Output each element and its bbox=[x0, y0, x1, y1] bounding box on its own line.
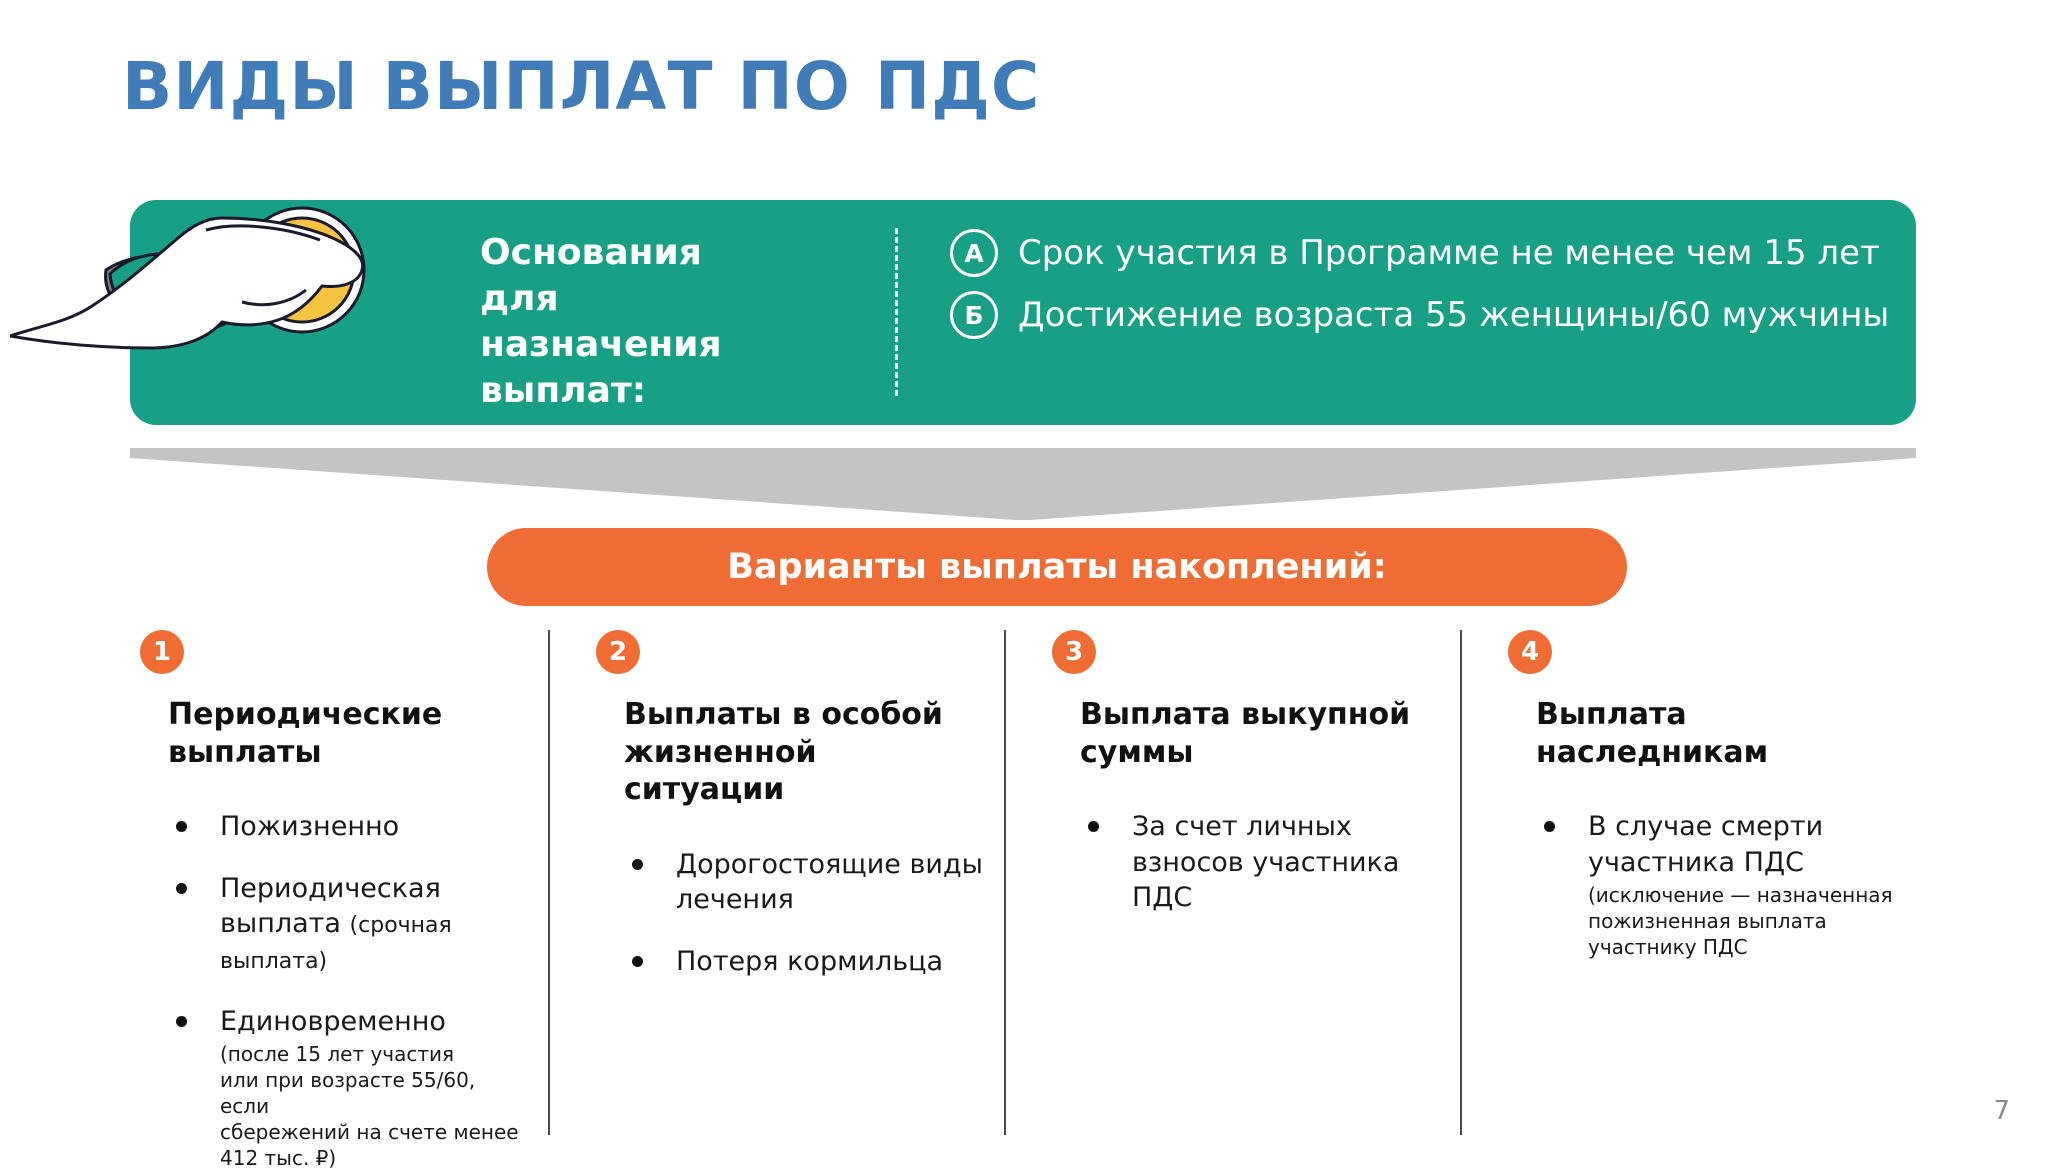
bullet-text: В случае смерти участника ПДС bbox=[1588, 811, 1823, 878]
list-item: За счет личных взносов участника ПДС bbox=[1082, 809, 1442, 916]
payout-column-1: 1 Периодические выплаты Пожизненно Перио… bbox=[130, 630, 548, 1135]
bullet-sub-note: (исключение — назначеннаяпожизненная вып… bbox=[1588, 882, 1898, 960]
payment-grounds-heading: Основания для назначения выплат: bbox=[480, 230, 810, 414]
bullet-dot-icon bbox=[176, 1016, 187, 1027]
bullet-text: Дорогостоящие виды лечения bbox=[676, 849, 983, 916]
payout-column-4: 4 Выплата наследникам В случае смерти уч… bbox=[1460, 630, 1916, 1135]
column-1-number-badge: 1 bbox=[140, 630, 184, 674]
column-3-heading: Выплата выкупной суммы bbox=[1080, 696, 1430, 771]
vertical-dashed-divider bbox=[895, 228, 898, 396]
payment-ground-text-b: Достижение возраста 55 женщины/60 мужчин… bbox=[1018, 295, 1889, 335]
list-item: Единовременно (после 15 лет участияили п… bbox=[170, 1004, 530, 1171]
payment-grounds-banner: Основания для назначения выплат: А Срок … bbox=[130, 200, 1916, 425]
payout-options-columns: 1 Периодические выплаты Пожизненно Перио… bbox=[130, 630, 1916, 1135]
bullet-dot-icon bbox=[1088, 821, 1099, 832]
column-3-number-badge: 3 bbox=[1052, 630, 1096, 674]
column-1-heading: Периодические выплаты bbox=[168, 696, 518, 771]
payment-ground-text-a: Срок участия в Программе не менее чем 15… bbox=[1018, 233, 1880, 273]
page-title: ВИДЫ ВЫПЛАТ ПО ПДС bbox=[122, 48, 1040, 125]
bullet-dot-icon bbox=[632, 859, 643, 870]
column-1-bullet-list: Пожизненно Периодическая выплата (срочна… bbox=[170, 809, 530, 1171]
payment-grounds-heading-line-2: для назначения bbox=[480, 276, 810, 368]
bullet-text: Единовременно bbox=[220, 1006, 446, 1037]
bullet-text: Потеря кормильца bbox=[676, 946, 943, 977]
payout-column-2: 2 Выплаты в особой жизненной ситуации До… bbox=[548, 630, 1004, 1135]
payment-grounds-heading-line-1: Основания bbox=[480, 230, 810, 276]
column-3-bullet-list: За счет личных взносов участника ПДС bbox=[1082, 809, 1442, 916]
list-item: В случае смерти участника ПДС (исключени… bbox=[1538, 809, 1898, 960]
bullet-dot-icon bbox=[176, 883, 187, 894]
list-item: Периодическая выплата (срочная выплата) bbox=[170, 871, 530, 978]
column-2-heading: Выплаты в особой жизненной ситуации bbox=[624, 696, 974, 809]
list-item: Дорогостоящие виды лечения bbox=[626, 847, 986, 918]
column-4-number-badge: 4 bbox=[1508, 630, 1552, 674]
column-4-bullet-list: В случае смерти участника ПДС (исключени… bbox=[1538, 809, 1898, 960]
bullet-dot-icon bbox=[632, 956, 643, 967]
list-item: Пожизненно bbox=[170, 809, 530, 845]
payment-ground-row-b: Б Достижение возраста 55 женщины/60 мужч… bbox=[950, 284, 1890, 346]
page-number: 7 bbox=[1993, 1096, 2010, 1126]
bullet-dot-icon bbox=[176, 821, 187, 832]
option-a-badge-icon: А bbox=[950, 229, 998, 277]
bullet-dot-icon bbox=[1544, 821, 1555, 832]
payout-column-3: 3 Выплата выкупной суммы За счет личных … bbox=[1004, 630, 1460, 1135]
payment-grounds-heading-line-3: выплат: bbox=[480, 368, 810, 414]
payment-ground-row-a: А Срок участия в Программе не менее чем … bbox=[950, 222, 1890, 284]
bullet-text: За счет личных взносов участника ПДС bbox=[1132, 811, 1399, 913]
column-4-heading: Выплата наследникам bbox=[1536, 696, 1886, 771]
payout-options-label: Варианты выплаты накоплений: bbox=[727, 547, 1387, 587]
funnel-arrow-shape bbox=[130, 448, 1916, 520]
payout-options-banner: Варианты выплаты накоплений: bbox=[487, 528, 1627, 606]
list-item: Потеря кормильца bbox=[626, 944, 986, 980]
column-2-number-badge: 2 bbox=[596, 630, 640, 674]
option-b-badge-icon: Б bbox=[950, 291, 998, 339]
bullet-text: Пожизненно bbox=[220, 811, 399, 842]
column-2-bullet-list: Дорогостоящие виды лечения Потеря кормил… bbox=[626, 847, 986, 980]
payment-grounds-list: А Срок участия в Программе не менее чем … bbox=[950, 222, 1890, 346]
